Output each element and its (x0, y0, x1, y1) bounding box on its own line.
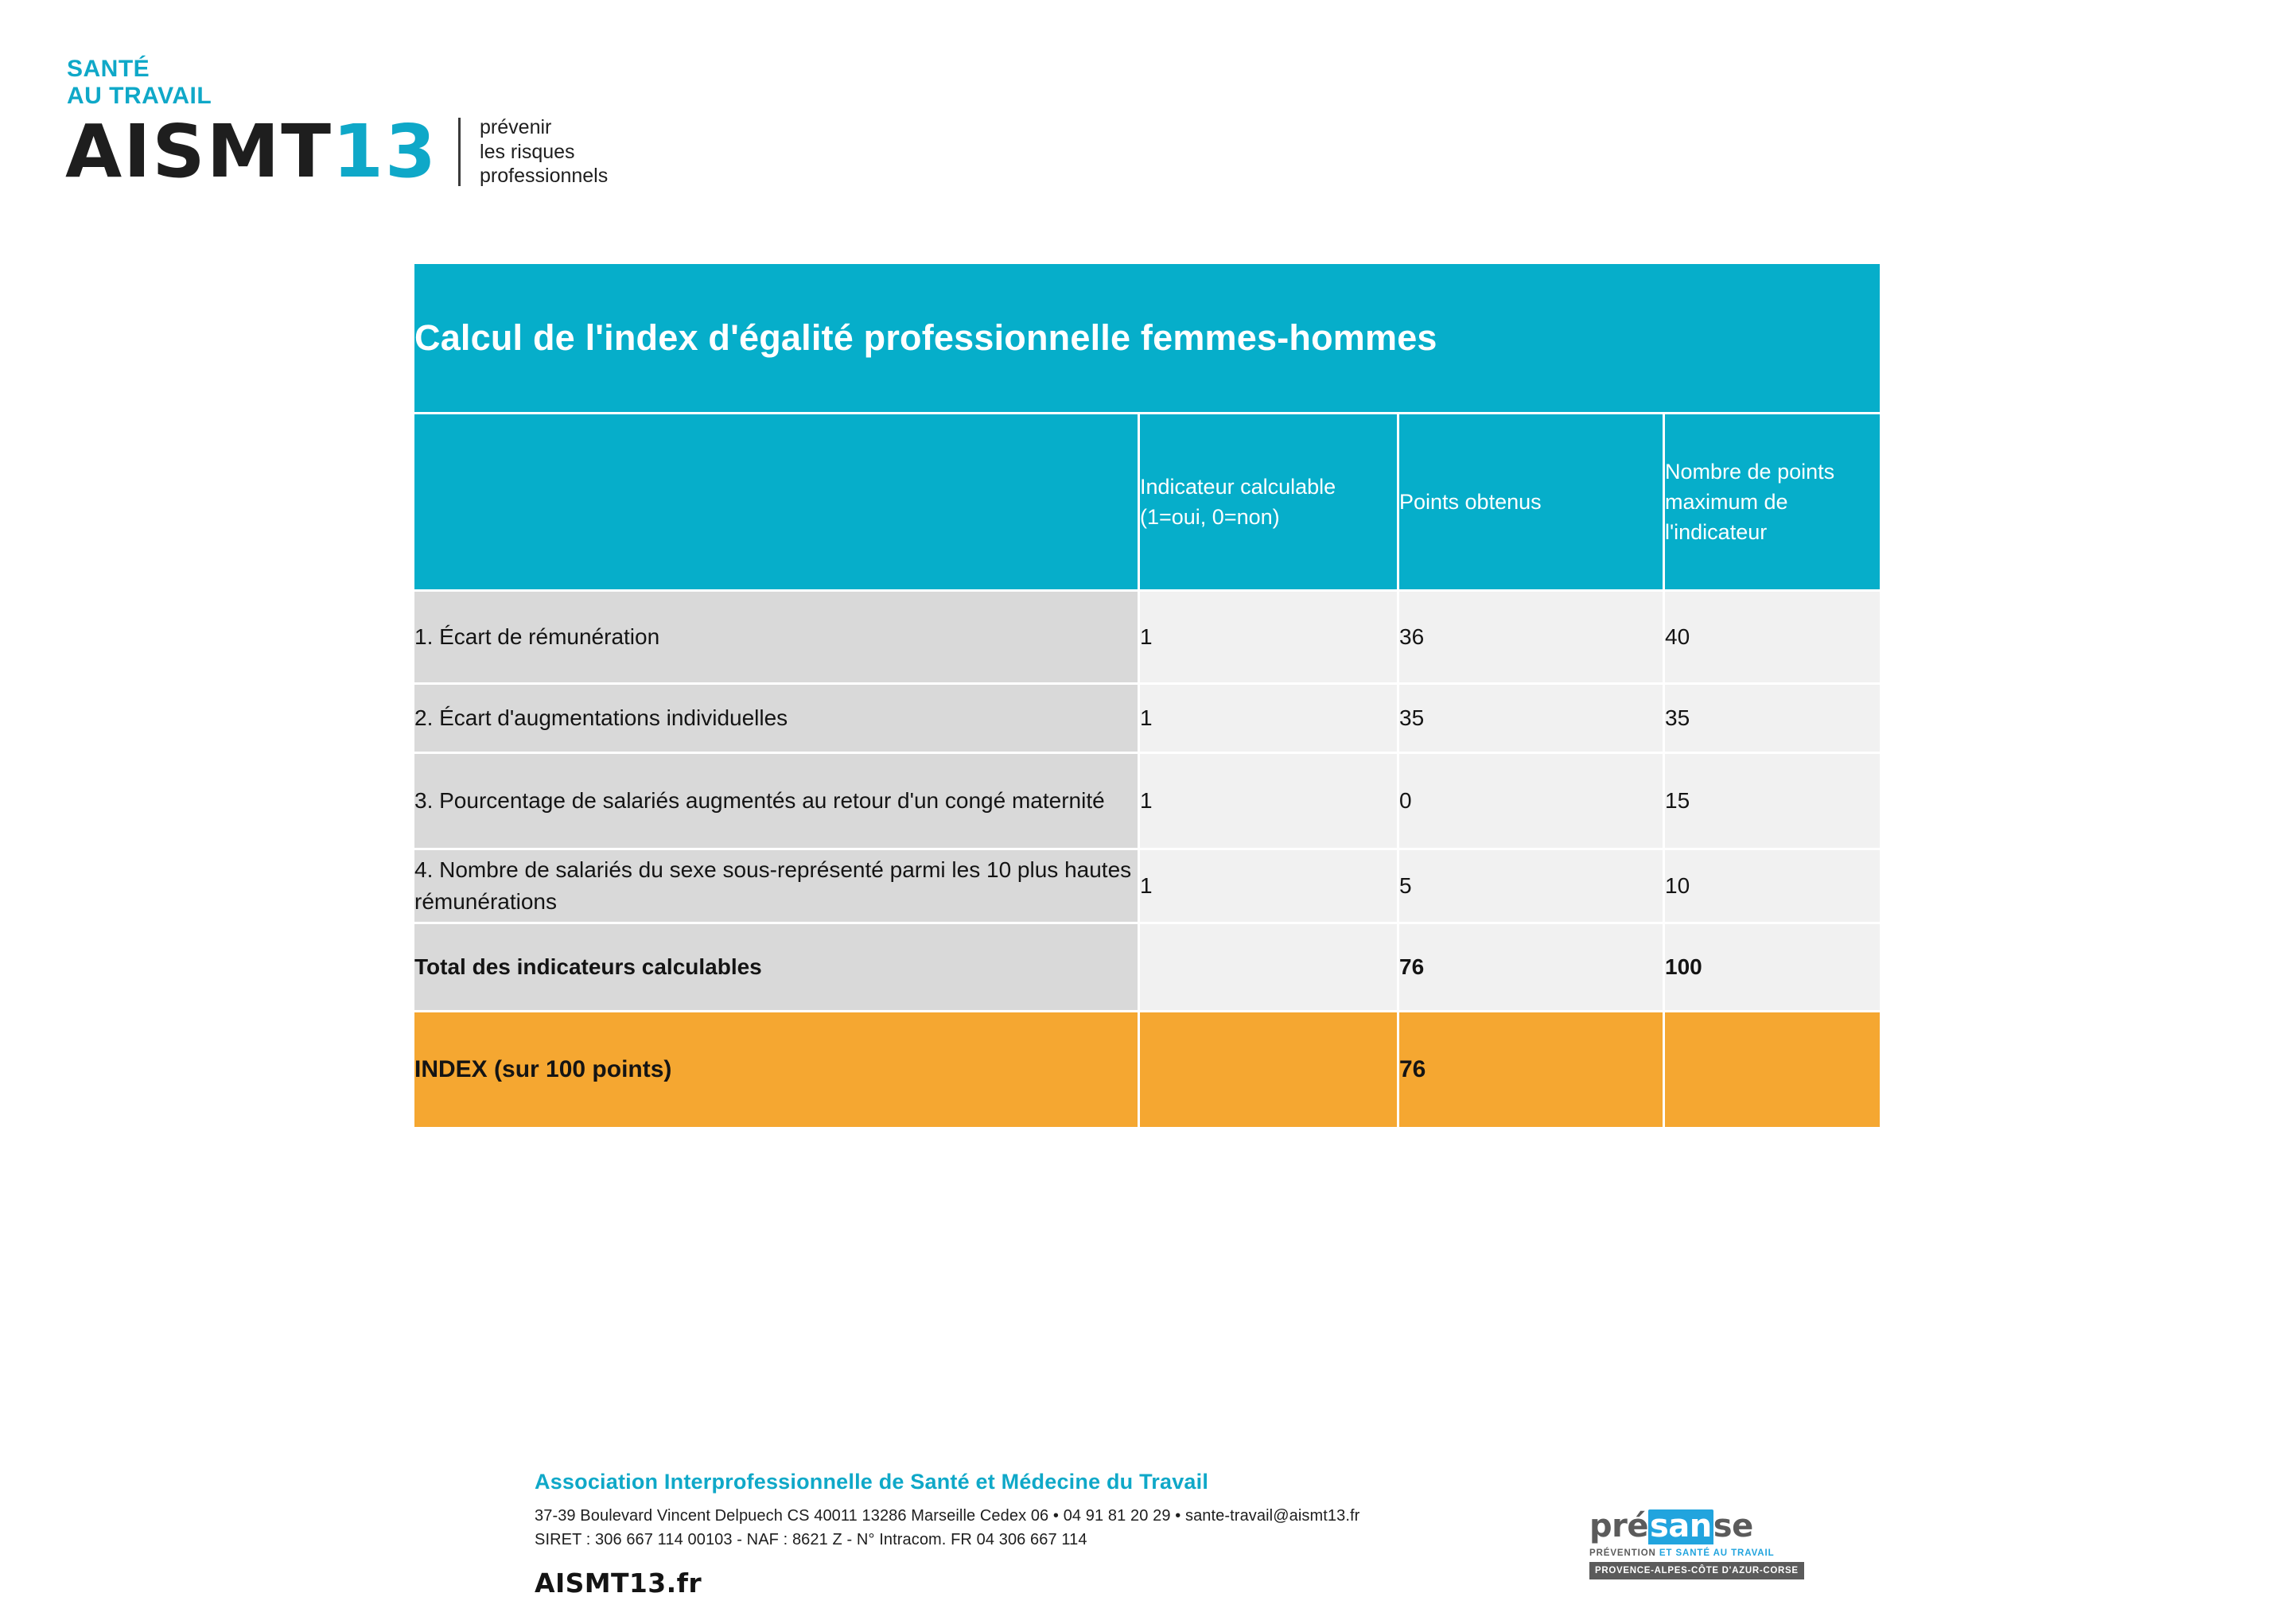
row-points-max-4: 10 (1663, 848, 1880, 922)
table-row: 4. Nombre de salariés du sexe sous-repré… (414, 848, 1880, 922)
brand-wordmark: AISMT13 (65, 115, 438, 188)
row-points-max-3: 15 (1663, 752, 1880, 848)
row-indicateur-1: 1 (1138, 589, 1397, 682)
index-label: INDEX (sur 100 points) (414, 1010, 1138, 1127)
footer-address: 37-39 Boulevard Vincent Delpuech CS 4001… (535, 1505, 1569, 1529)
table-title-row: Calcul de l'index d'égalité professionne… (414, 264, 1880, 412)
presanse-subtitle: PRÉVENTION ET SANTÉ AU TRAVAIL (1589, 1548, 1777, 1558)
row-points-obtenus-3: 0 (1397, 752, 1663, 848)
brand-divider (458, 118, 461, 186)
header-cell-blank (414, 412, 1138, 589)
row-label-4: 4. Nombre de salariés du sexe sous-repré… (414, 848, 1138, 922)
total-label: Total des indicateurs calculables (414, 922, 1138, 1010)
presanse-wordmark: présanse (1589, 1509, 1777, 1544)
index-indicateur (1138, 1010, 1397, 1127)
table-row: 3. Pourcentage de salariés augmentés au … (414, 752, 1880, 848)
brand-subtitle-line2: les risques (480, 140, 608, 165)
table-index-row: INDEX (sur 100 points) 76 (414, 1010, 1880, 1127)
presanse-word-pre: pré (1589, 1510, 1648, 1542)
total-indicateur (1138, 922, 1397, 1010)
row-points-obtenus-1: 36 (1397, 589, 1663, 682)
row-label-2: 2. Écart d'augmentations individuelles (414, 682, 1138, 752)
brand-logo: SANTÉ AU TRAVAIL AISMT13 prévenir les ri… (65, 56, 749, 207)
brand-tagline-line2: AU TRAVAIL (67, 83, 749, 110)
brand-subtitle-line3: professionnels (480, 164, 608, 188)
header-cell-points-obtenus: Points obtenus (1397, 412, 1663, 589)
brand-wordmark-number: 13 (333, 109, 438, 194)
row-points-max-1: 40 (1663, 589, 1880, 682)
row-label-1: 1. Écart de rémunération (414, 589, 1138, 682)
row-label-3: 3. Pourcentage de salariés augmentés au … (414, 752, 1138, 848)
index-points-obtenus: 76 (1397, 1010, 1663, 1127)
index-table: Calcul de l'index d'égalité professionne… (414, 264, 1880, 1127)
row-points-obtenus-2: 35 (1397, 682, 1663, 752)
brand-wordmark-row: AISMT13 prévenir les risques professionn… (65, 115, 749, 188)
brand-tagline-line1: SANTÉ (67, 56, 749, 83)
row-points-max-2: 35 (1663, 682, 1880, 752)
presanse-subtitle-dark: PRÉVENTION (1589, 1548, 1659, 1558)
table-header-row: Indicateur calculable (1=oui, 0=non) Poi… (414, 412, 1880, 589)
table-total-row: Total des indicateurs calculables 76 100 (414, 922, 1880, 1010)
header-cell-indicateur: Indicateur calculable (1=oui, 0=non) (1138, 412, 1397, 589)
presanse-word-highlight: san (1648, 1509, 1713, 1544)
table-row: 1. Écart de rémunération 1 36 40 (414, 589, 1880, 682)
footer-legal: SIRET : 306 667 114 00103 - NAF : 8621 Z… (535, 1529, 1569, 1552)
brand-subtitle: prévenir les risques professionnels (480, 115, 608, 188)
presanse-region-band: PROVENCE-ALPES-CÔTE D'AZUR-CORSE (1589, 1562, 1804, 1579)
presanse-logo: présanse PRÉVENTION ET SANTÉ AU TRAVAIL … (1589, 1509, 1777, 1579)
brand-subtitle-line1: prévenir (480, 115, 608, 140)
presanse-subtitle-teal: ET SANTÉ AU TRAVAIL (1659, 1548, 1775, 1558)
footer-website[interactable]: AISMT13.fr (535, 1568, 1569, 1599)
presanse-word-post: se (1713, 1510, 1753, 1542)
footer-org-name: Association Interprofessionnelle de Sant… (535, 1470, 1569, 1494)
total-points-max: 100 (1663, 922, 1880, 1010)
index-points-max (1663, 1010, 1880, 1127)
total-points-obtenus: 76 (1397, 922, 1663, 1010)
brand-wordmark-main: AISMT (65, 109, 333, 194)
row-points-obtenus-4: 5 (1397, 848, 1663, 922)
footer: Association Interprofessionnelle de Sant… (535, 1470, 1569, 1599)
header-cell-points-max: Nombre de points maximum de l'indicateur (1663, 412, 1880, 589)
row-indicateur-3: 1 (1138, 752, 1397, 848)
row-indicateur-4: 1 (1138, 848, 1397, 922)
row-indicateur-2: 1 (1138, 682, 1397, 752)
table-title: Calcul de l'index d'égalité professionne… (414, 264, 1880, 412)
table-row: 2. Écart d'augmentations individuelles 1… (414, 682, 1880, 752)
brand-tagline: SANTÉ AU TRAVAIL (67, 56, 749, 109)
